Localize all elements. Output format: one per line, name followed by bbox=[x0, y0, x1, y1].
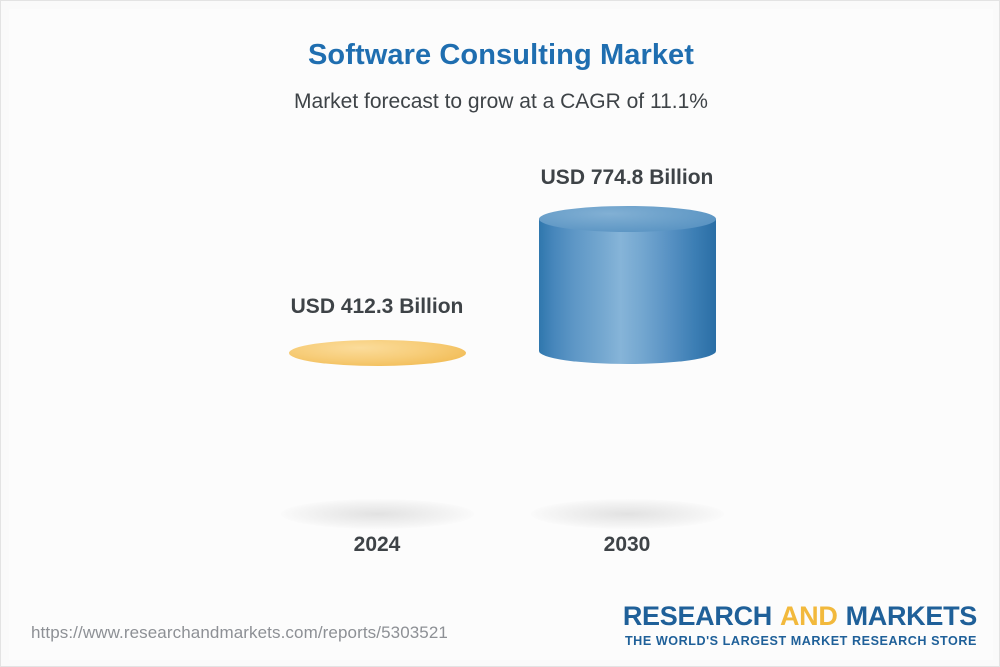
chart-plot-area: USD 412.3 Billion 2024 USD 774.8 Billion bbox=[1, 1, 1000, 667]
cylinder-body-upper-2030 bbox=[539, 219, 716, 351]
cylinder-2030 bbox=[539, 206, 716, 513]
logo-tagline: THE WORLD'S LARGEST MARKET RESEARCH STOR… bbox=[623, 634, 977, 648]
brand-logo[interactable]: RESEARCHANDMARKETS THE WORLD'S LARGEST M… bbox=[623, 603, 977, 648]
value-label-2030: USD 774.8 Billion bbox=[467, 166, 787, 190]
category-label-2030: 2030 bbox=[467, 533, 787, 557]
chart-page: Software Consulting Market Market foreca… bbox=[0, 0, 1000, 667]
value-label-2024: USD 412.3 Billion bbox=[217, 295, 537, 319]
cylinder-2024 bbox=[289, 340, 466, 513]
cylinder-top-2030 bbox=[539, 206, 716, 232]
logo-word-research: RESEARCH bbox=[623, 601, 772, 631]
cylinder-top-2024 bbox=[289, 340, 466, 366]
cylinder-body-mask-2024 bbox=[289, 353, 466, 513]
logo-word-markets: MARKETS bbox=[846, 601, 977, 631]
source-url[interactable]: https://www.researchandmarkets.com/repor… bbox=[31, 623, 448, 643]
logo-wordmark: RESEARCHANDMARKETS bbox=[623, 603, 977, 631]
cylinder-segment-divider-2030 bbox=[539, 338, 716, 364]
logo-word-and: AND bbox=[780, 601, 838, 631]
